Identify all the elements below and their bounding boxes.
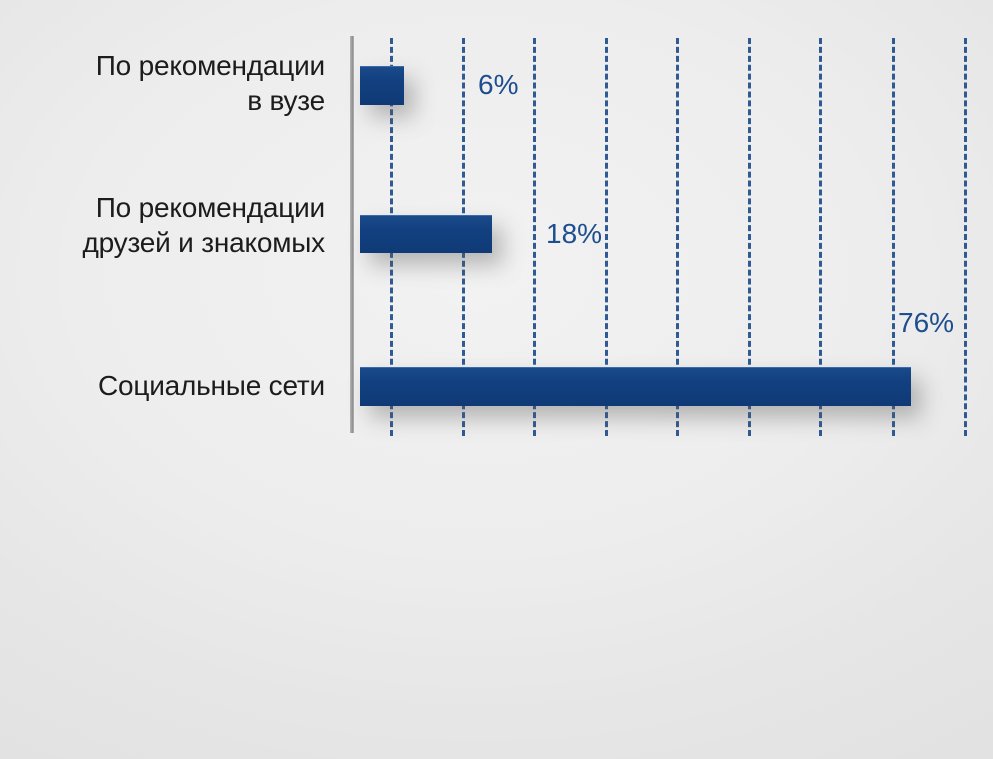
value-label-1: 18% (546, 219, 602, 249)
value-label-2: 76% (898, 308, 954, 338)
bar-chart: По рекомендации в вузе 6% По рекомендаци… (0, 0, 993, 759)
category-label-1: По рекомендации друзей и знакомых (0, 190, 325, 260)
category-label-0: По рекомендации в вузе (0, 48, 325, 118)
gridline-9 (964, 38, 967, 436)
bar-1 (360, 215, 492, 253)
value-label-0: 6% (478, 70, 518, 100)
category-axis-line (350, 36, 354, 433)
bar-2 (360, 367, 911, 406)
bar-0 (360, 66, 404, 105)
category-label-2: Социальные сети (0, 368, 325, 403)
